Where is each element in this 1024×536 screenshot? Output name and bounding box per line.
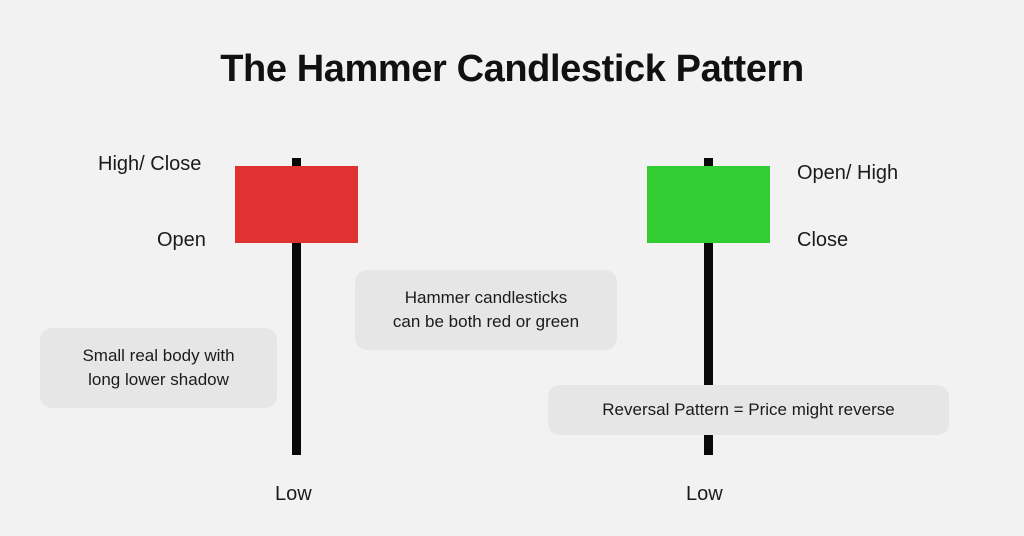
callout-line: Hammer candlesticks (369, 286, 603, 310)
page-title: The Hammer Candlestick Pattern (0, 48, 1024, 91)
label-close: Close (797, 229, 848, 252)
label-open-left: Open (157, 229, 206, 252)
callout-line: long lower shadow (54, 368, 263, 392)
callout-reversal-pattern: Reversal Pattern = Price might reverse (548, 385, 949, 435)
callout-line: Small real body with (54, 344, 263, 368)
diagram-canvas: The Hammer Candlestick Pattern High/ Clo… (0, 0, 1024, 536)
callout-small-real-body: Small real body with long lower shadow (40, 328, 277, 408)
label-low-right: Low (686, 483, 723, 506)
candle-body-green (647, 166, 770, 243)
label-open-high: Open/ High (797, 162, 898, 185)
callout-line: can be both red or green (369, 310, 603, 334)
callout-red-or-green: Hammer candlesticks can be both red or g… (355, 270, 617, 350)
candle-body-red (235, 166, 358, 243)
label-low-left: Low (275, 483, 312, 506)
label-high-close: High/ Close (98, 153, 201, 176)
